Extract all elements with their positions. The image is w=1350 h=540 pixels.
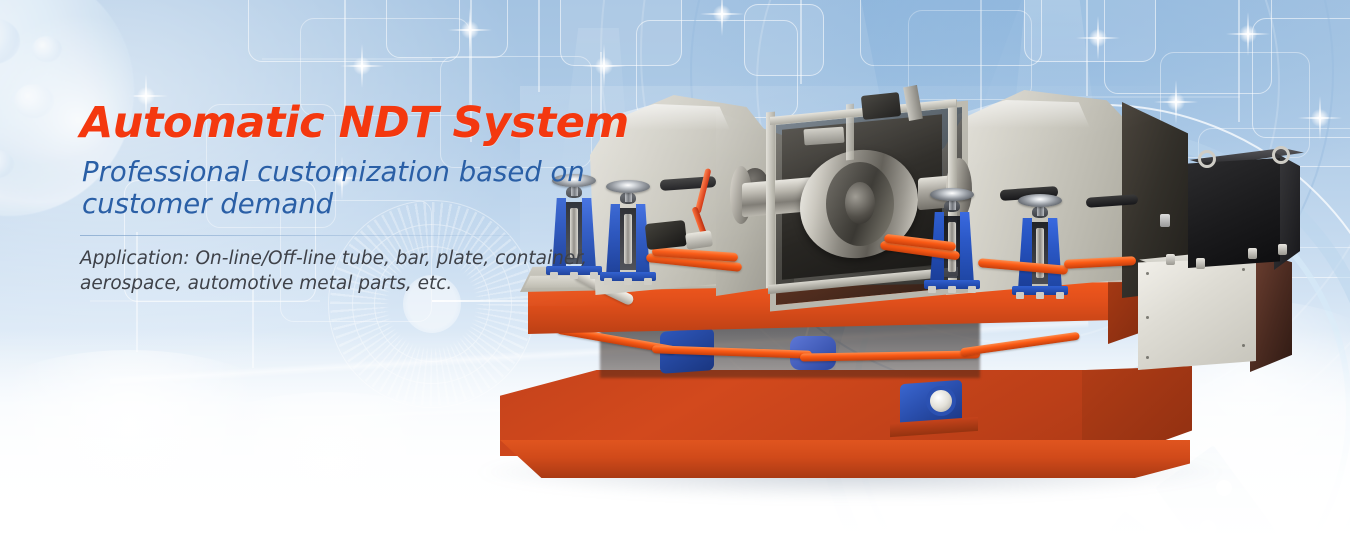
- divider: [80, 235, 510, 236]
- hero-banner: Automatic NDT System Professional custom…: [0, 0, 1350, 540]
- hero-copy-block: Automatic NDT System Professional custom…: [80, 102, 600, 296]
- page-title: Automatic NDT System: [80, 102, 600, 146]
- medallion-connector-line: [432, 300, 550, 302]
- application-text: Application: On-line/Off-line tube, bar,…: [80, 247, 600, 297]
- subtitle: Professional customization based on cust…: [82, 156, 600, 221]
